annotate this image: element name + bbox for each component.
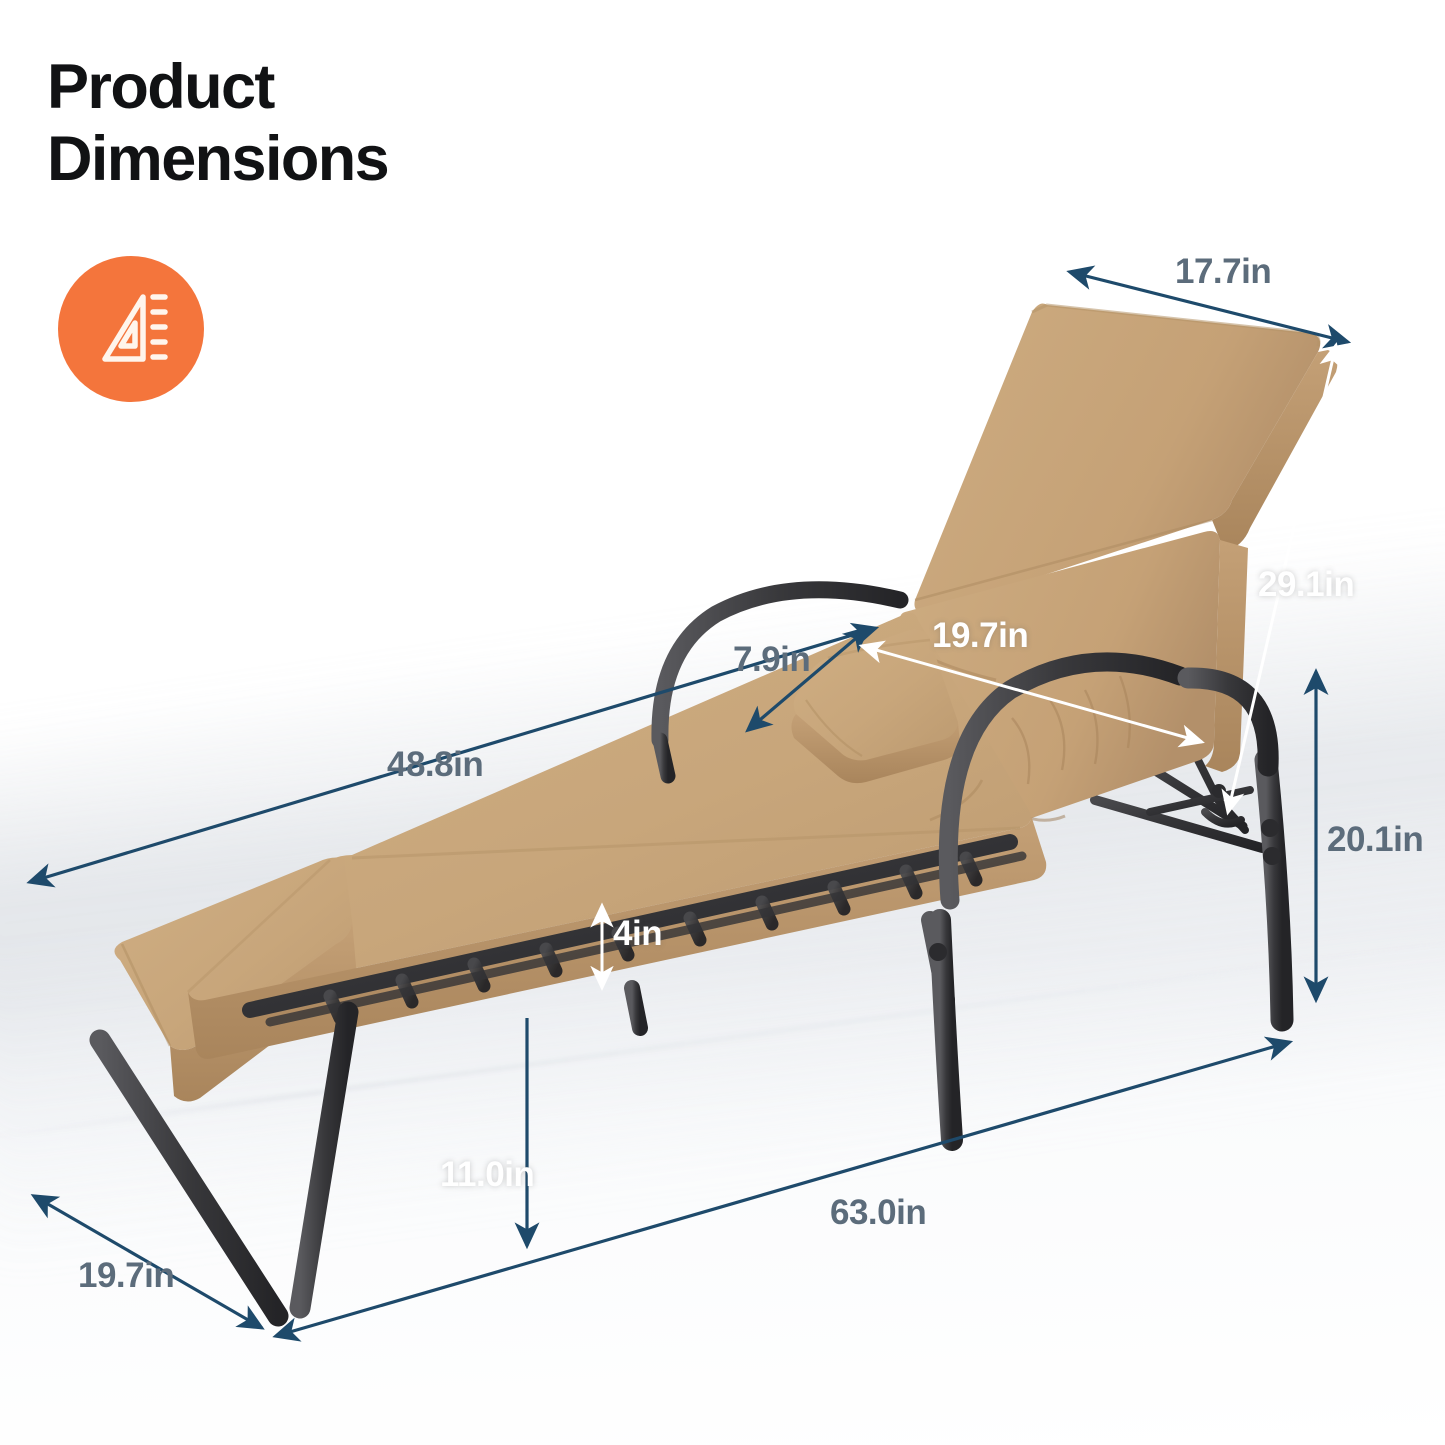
dimension-label-seat-height-front: 11.0in [440,1155,534,1195]
page-title: Product Dimensions [47,52,687,196]
page-title-line1: Product [47,52,687,124]
dimension-label-cushion-thickness: 4in [613,914,662,954]
dimension-label-overall-depth: 19.7in [78,1256,174,1296]
ruler-triangle-icon [58,256,204,402]
dimension-label-backrest-height: 29.1in [1258,565,1354,605]
dimension-label-seat-width: 19.7in [932,616,1028,656]
dimension-label-overall-length: 63.0in [830,1193,926,1233]
page-title-line2: Dimensions [47,124,687,196]
dimension-label-seat-length: 48.8in [387,745,483,785]
dimension-label-pillow-thickness: 7.9in [733,640,810,680]
dimension-label-seat-height-rear: 20.1in [1327,820,1423,860]
dimension-label-overall-width: 17.7in [1175,252,1271,292]
infographic-canvas: Product Dimensions [0,0,1445,1445]
